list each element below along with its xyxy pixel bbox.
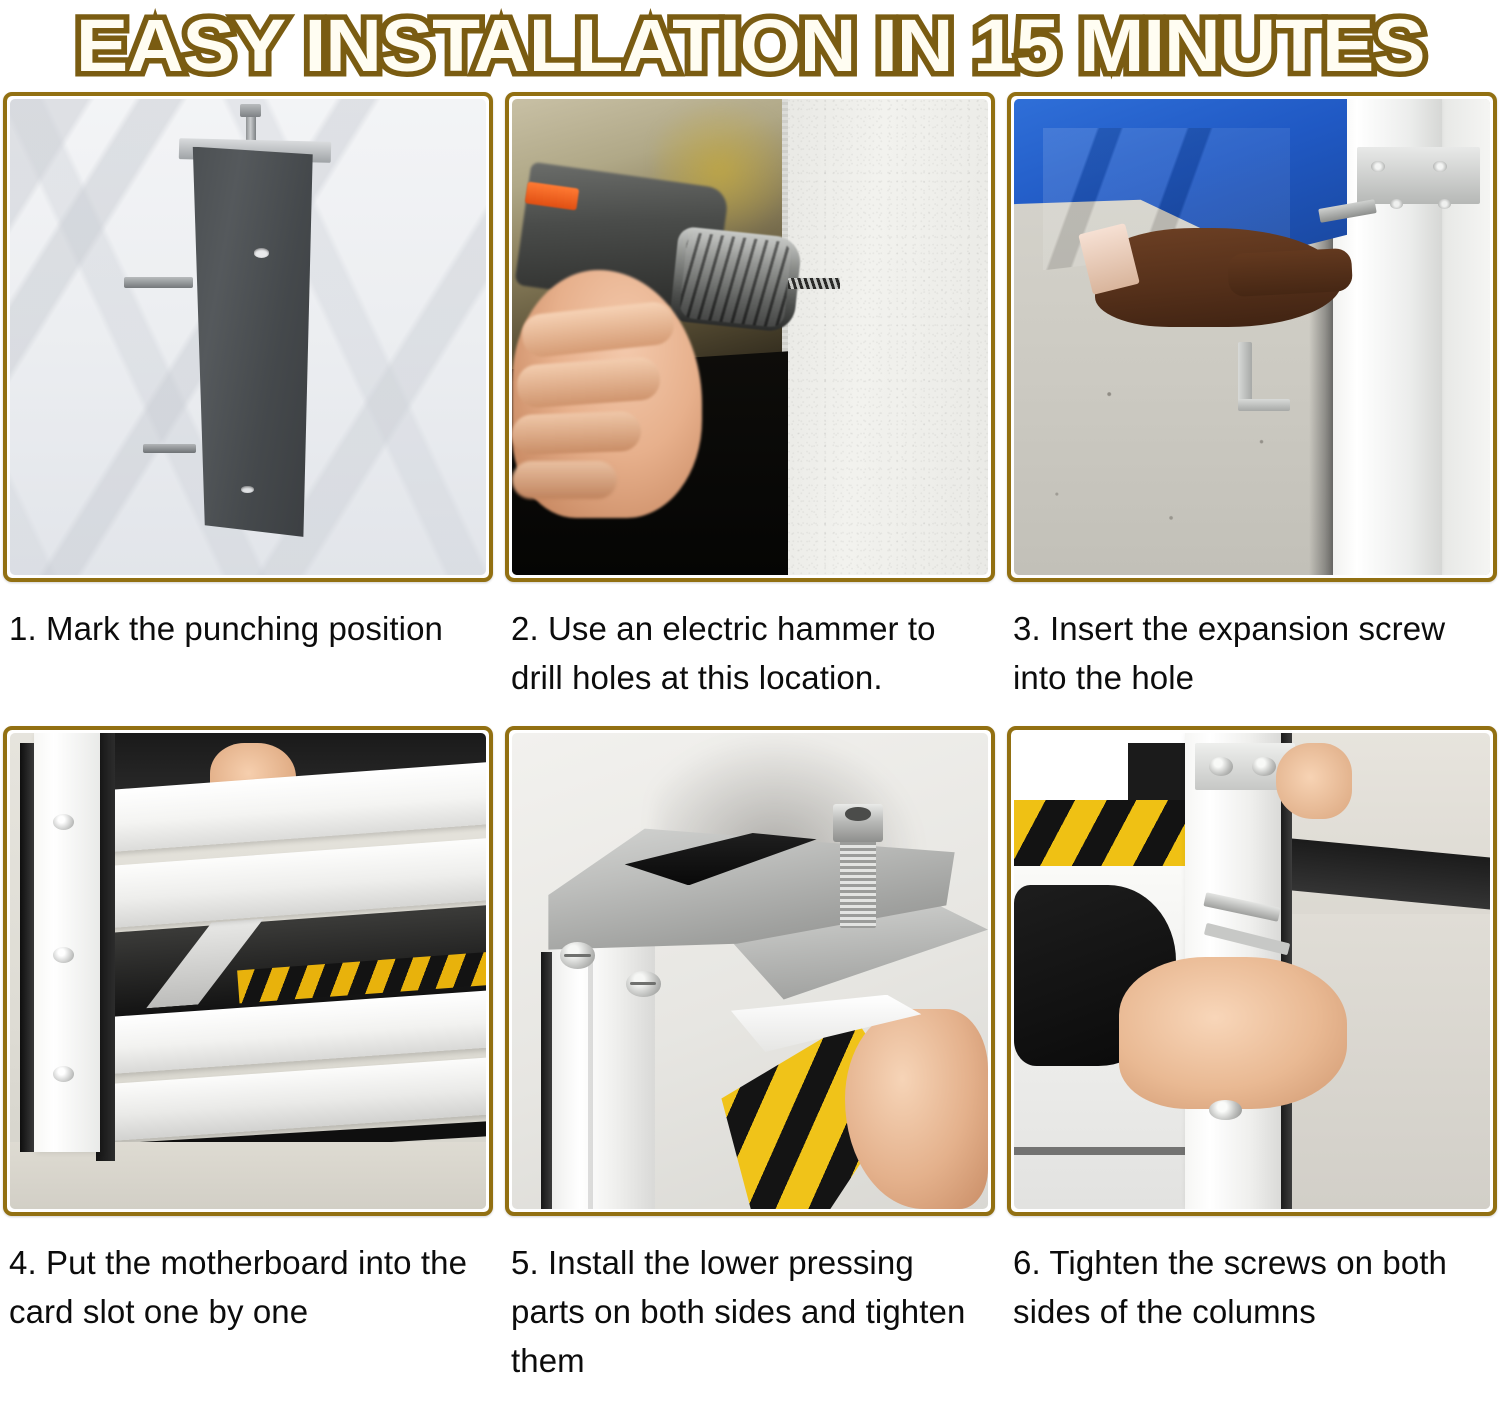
- column-top-bracket: [1357, 147, 1481, 204]
- header-banner: EASY INSTALLATION IN 15 MINUTES: [0, 0, 1500, 92]
- finger-3: [512, 411, 641, 456]
- step-5-photo: [512, 733, 988, 1209]
- step-6-caption: 6. Tighten the screws on both sides of t…: [1007, 1216, 1497, 1364]
- step-3-caption: 3. Insert the expansion screw into the h…: [1007, 582, 1497, 722]
- allen-key-horizontal-arm: [1238, 399, 1290, 411]
- step-card-6: 6. Tighten the screws on both sides of t…: [1007, 726, 1497, 1364]
- bracket-screw-2: [626, 971, 660, 997]
- step-4-caption: 4. Put the motherboard into the card slo…: [3, 1216, 493, 1364]
- steps-grid-row-2: 4. Put the motherboard into the card slo…: [0, 726, 1500, 1364]
- step-3-photo: [1014, 99, 1490, 575]
- bracket-screw-1: [560, 942, 596, 969]
- column-groove-line: [588, 952, 593, 1209]
- step-5-caption: 5. Install the lower pressing parts on b…: [505, 1216, 995, 1364]
- upper-hand: [1276, 743, 1352, 819]
- column-dark-edge: [541, 952, 553, 1209]
- punch-mark-upper: [254, 248, 270, 258]
- step-card-1: 1. Mark the punching position: [3, 92, 493, 722]
- white-wall: [788, 99, 988, 575]
- lower-hand: [1119, 957, 1347, 1109]
- board-seam-2: [1014, 1147, 1195, 1155]
- hazard-stripe-tape: [1014, 800, 1185, 867]
- step-card-2: 2. Use an electric hammer to drill holes…: [505, 92, 995, 722]
- step-card-5: 5. Install the lower pressing parts on b…: [505, 726, 995, 1364]
- step-1-photo-frame: [3, 92, 493, 582]
- step-4-photo: [10, 733, 486, 1209]
- step-5-photo-frame: [505, 726, 995, 1216]
- step-4-photo-frame: [3, 726, 493, 1216]
- finger-4: [512, 461, 617, 499]
- worker-fingers: [1227, 248, 1353, 297]
- column-top-screw-2: [1252, 757, 1276, 776]
- step-3-photo-frame: [1007, 92, 1497, 582]
- floor-surface: [10, 1142, 486, 1209]
- column-plate: [186, 147, 319, 537]
- mounting-stud-lower: [143, 444, 195, 453]
- steps-grid-row-1: 1. Mark the punching position: [0, 92, 1500, 722]
- punch-mark-lower: [241, 486, 254, 494]
- step-2-photo-frame: [505, 92, 995, 582]
- step-card-3: 3. Insert the expansion screw into the h…: [1007, 92, 1497, 722]
- top-bolt-head: [240, 104, 261, 116]
- step-2-caption: 2. Use an electric hammer to drill holes…: [505, 582, 995, 722]
- hex-bolt-socket: [845, 807, 871, 820]
- column-top-screw-1: [1209, 757, 1233, 776]
- step-card-4: 4. Put the motherboard into the card slo…: [3, 726, 493, 1364]
- white-column-left: [34, 733, 101, 1152]
- drill-chuck-rings: [679, 232, 792, 328]
- step-6-photo: [1014, 733, 1490, 1209]
- hex-bolt-shaft: [840, 833, 876, 928]
- step-1-photo: [10, 99, 486, 575]
- page-title: EASY INSTALLATION IN 15 MINUTES: [76, 9, 1425, 83]
- column-left-shadow: [20, 743, 34, 1152]
- drill-bit: [788, 278, 840, 289]
- step-2-photo: [512, 99, 988, 575]
- mounting-stud-upper: [124, 277, 193, 288]
- step-6-photo-frame: [1007, 726, 1497, 1216]
- step-1-caption: 1. Mark the punching position: [3, 582, 493, 722]
